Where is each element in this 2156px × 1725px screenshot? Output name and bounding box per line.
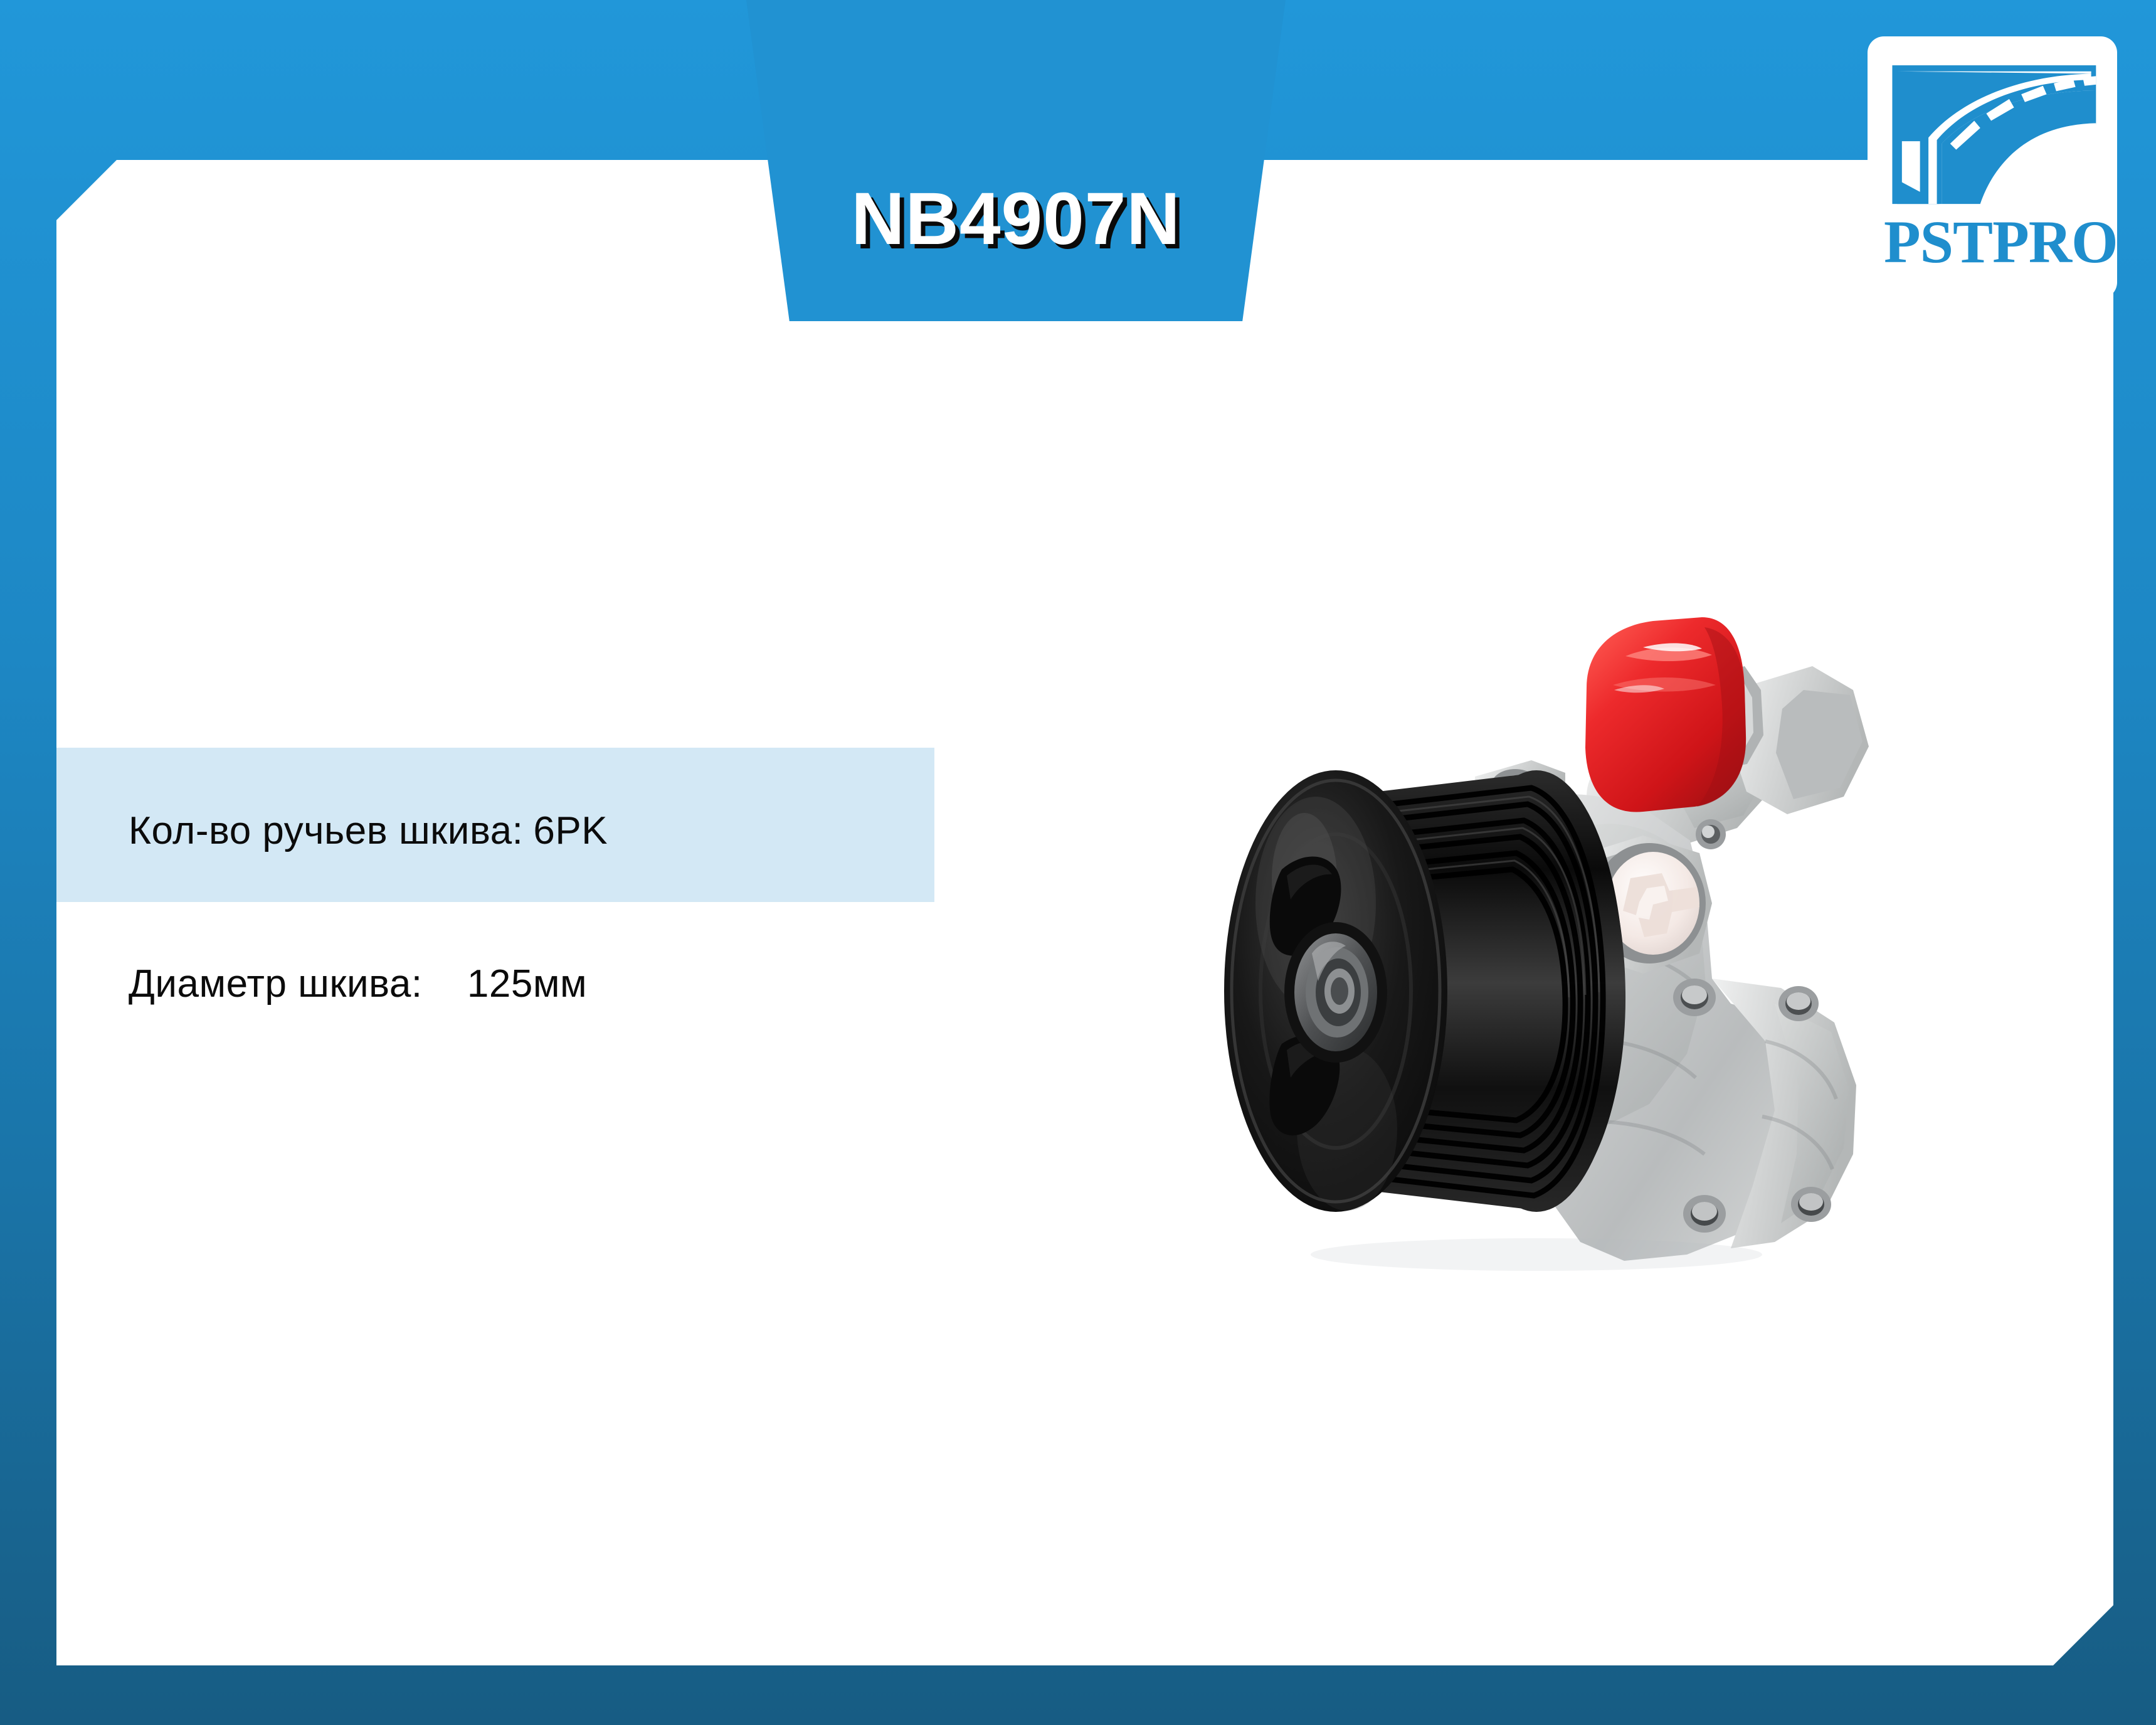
product-image	[1148, 502, 1963, 1380]
pulley	[1224, 770, 1625, 1212]
spec-value-diameter: 125мм	[467, 965, 587, 1004]
spec-value-grooves: 6PK	[533, 812, 608, 851]
spec-label-grooves: Кол-во ручьев шкива:	[129, 812, 524, 851]
spec-row: Диаметр шкива:125мм	[84, 926, 934, 1043]
brand-logo: PSTPRO	[1868, 36, 2117, 299]
page-title: NB4907N	[746, 182, 1286, 256]
spec-label-diameter: Диаметр шкива:	[129, 965, 467, 1004]
spec-row: Кол-во ручьев шкива:6PK	[84, 773, 934, 889]
road-bridge-icon	[1884, 50, 2101, 207]
brand-name: PSTPRO	[1884, 212, 2101, 272]
red-cap	[1585, 617, 1869, 814]
specifications-box: Кол-во ручьев шкива:6PK Диаметр шкива:12…	[56, 748, 934, 902]
